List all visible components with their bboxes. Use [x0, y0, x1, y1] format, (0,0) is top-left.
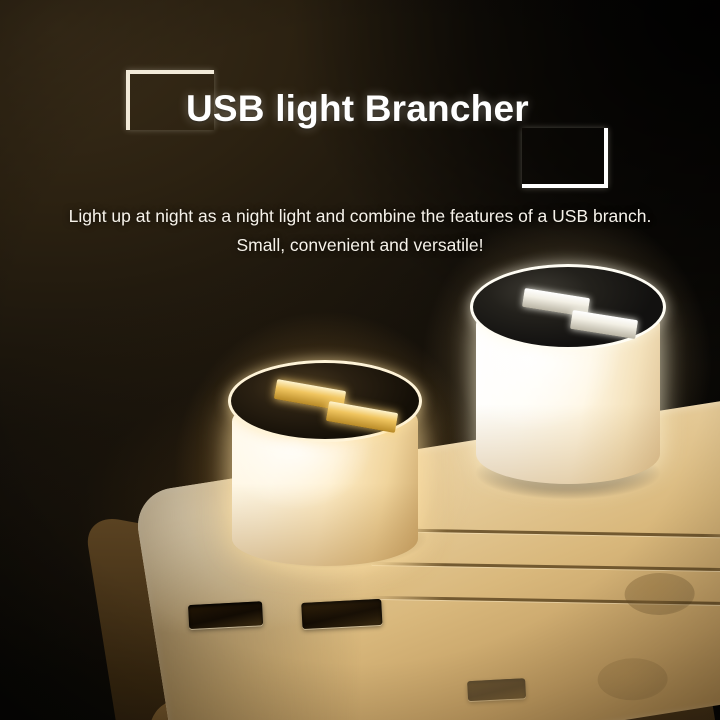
usb-light-front: [218, 352, 434, 582]
power-strip-usb-socket: [188, 601, 263, 629]
page-title: USB light Brancher: [186, 88, 529, 130]
corner-bracket-bottom-right-icon: [522, 128, 608, 188]
power-strip-usb-socket: [301, 599, 382, 629]
power-strip-usb-socket: [467, 678, 526, 701]
usb-port-icon: [570, 310, 638, 339]
subtitle-line-1: Light up at night as a night light and c…: [0, 202, 720, 231]
lamp-top-face: [470, 264, 666, 350]
subtitle: Light up at night as a night light and c…: [0, 202, 720, 260]
lamp-top-face: [228, 360, 422, 442]
product-banner: USB light Brancher Light up at night as …: [0, 0, 720, 720]
usb-light-back: [462, 258, 672, 506]
usb-port-icon: [326, 401, 398, 433]
subtitle-line-2: Small, convenient and versatile!: [0, 231, 720, 260]
